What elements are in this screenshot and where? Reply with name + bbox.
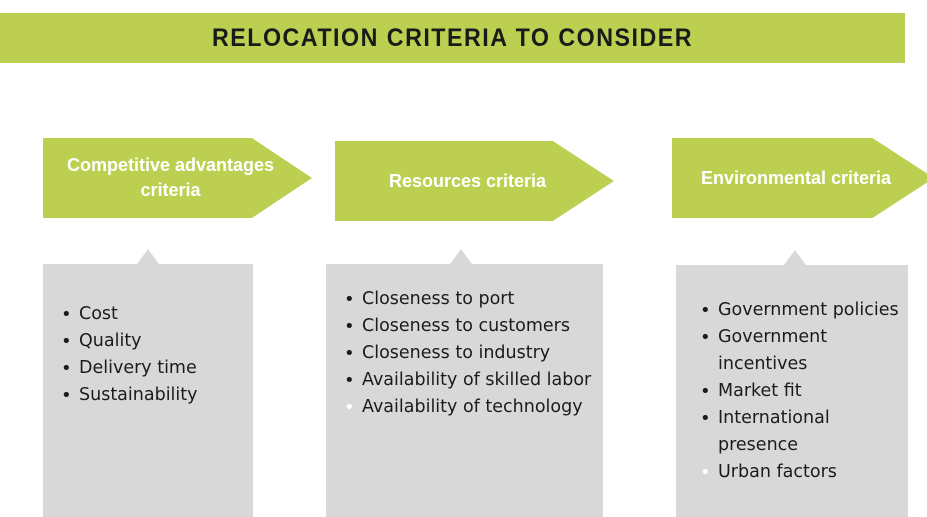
list-item: Sustainability xyxy=(59,382,253,409)
list-item: Availability of technology xyxy=(342,394,603,421)
arrow-banner-resources: Resources criteria xyxy=(335,141,614,221)
list-item: Market fit xyxy=(698,378,908,405)
list-item: Government incentives xyxy=(698,324,908,378)
criteria-panel-environmental: Government policiesGovernment incentives… xyxy=(676,265,908,517)
criteria-list: Closeness to portCloseness to customersC… xyxy=(342,286,603,421)
panel-pointer-icon xyxy=(784,250,806,265)
arrow-banner-label: Environmental criteria xyxy=(672,166,927,191)
panel-pointer-icon xyxy=(137,249,159,264)
list-item: Quality xyxy=(59,328,253,355)
list-item: Closeness to port xyxy=(342,286,603,313)
list-item: Urban factors xyxy=(698,459,908,486)
list-item: Availability of skilled labor xyxy=(342,367,603,394)
criteria-panel-competitive: CostQualityDelivery timeSustainability xyxy=(43,264,253,517)
criteria-list: CostQualityDelivery timeSustainability xyxy=(59,301,253,409)
list-item: Delivery time xyxy=(59,355,253,382)
arrow-banner-label: Competitive advantages criteria xyxy=(43,153,312,203)
header-banner: RELOCATION CRITERIA TO CONSIDER xyxy=(0,13,905,63)
list-item: Government policies xyxy=(698,297,908,324)
list-item: Closeness to industry xyxy=(342,340,603,367)
arrow-banner-environmental: Environmental criteria xyxy=(672,138,927,218)
list-item: International presence xyxy=(698,405,908,459)
arrow-banner-competitive: Competitive advantages criteria xyxy=(43,138,312,218)
criteria-list: Government policiesGovernment incentives… xyxy=(698,297,908,486)
list-item: Closeness to customers xyxy=(342,313,603,340)
panel-pointer-icon xyxy=(450,249,472,264)
arrow-banner-label: Resources criteria xyxy=(335,169,614,194)
page-title: RELOCATION CRITERIA TO CONSIDER xyxy=(32,13,874,63)
criteria-panel-resources: Closeness to portCloseness to customersC… xyxy=(326,264,603,517)
list-item: Cost xyxy=(59,301,253,328)
